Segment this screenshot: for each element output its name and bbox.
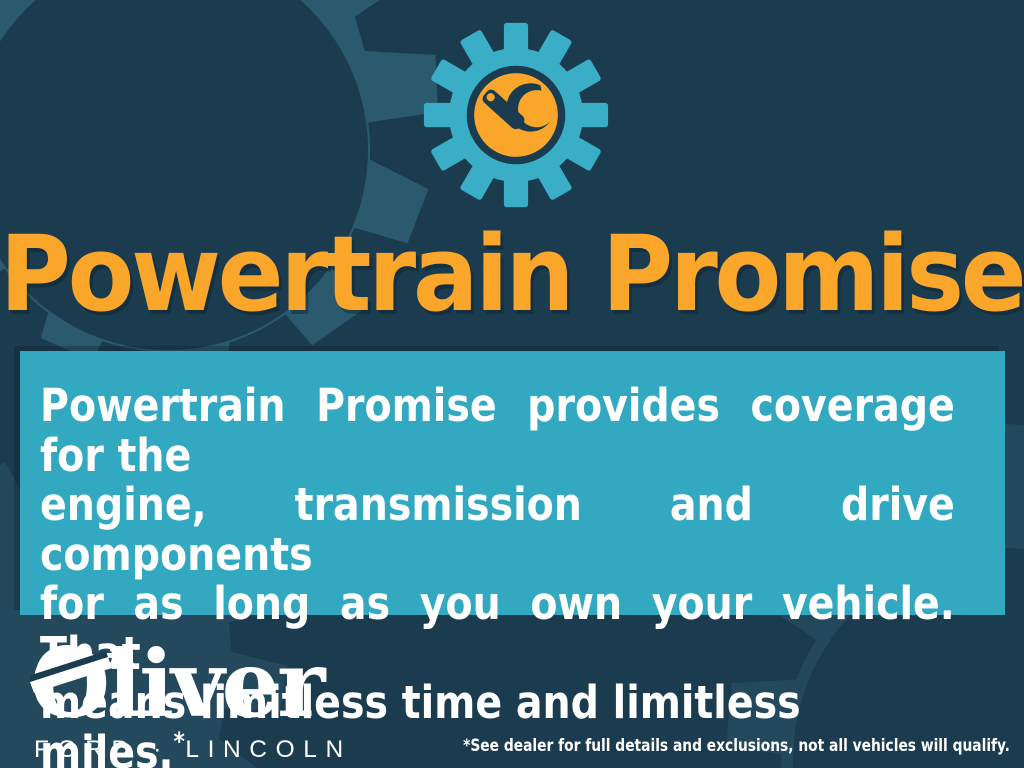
gear-wrench-icon xyxy=(423,22,609,208)
dealer-brands-label: FORD · LINCOLN xyxy=(34,736,352,764)
description-panel: Powertrain Promise provides coverage for… xyxy=(20,351,1005,615)
description-line-2: engine, transmission and drive component… xyxy=(40,480,955,579)
bg-gear-large-left xyxy=(0,0,466,401)
poster-headline: Powertrain Promise xyxy=(0,218,1024,330)
headline-text: Powertrain Promise xyxy=(0,222,1024,326)
powertrain-promise-poster: Powertrain Promise Powertrain Promise pr… xyxy=(0,0,1024,768)
oliver-wordmark: Oliver xyxy=(30,638,330,733)
dealer-logo: Oliver FORD · LINCOLN xyxy=(30,638,360,764)
description-line-1: Powertrain Promise provides coverage for… xyxy=(40,381,955,480)
disclaimer-text: *See dealer for full details and exclusi… xyxy=(463,736,1010,756)
